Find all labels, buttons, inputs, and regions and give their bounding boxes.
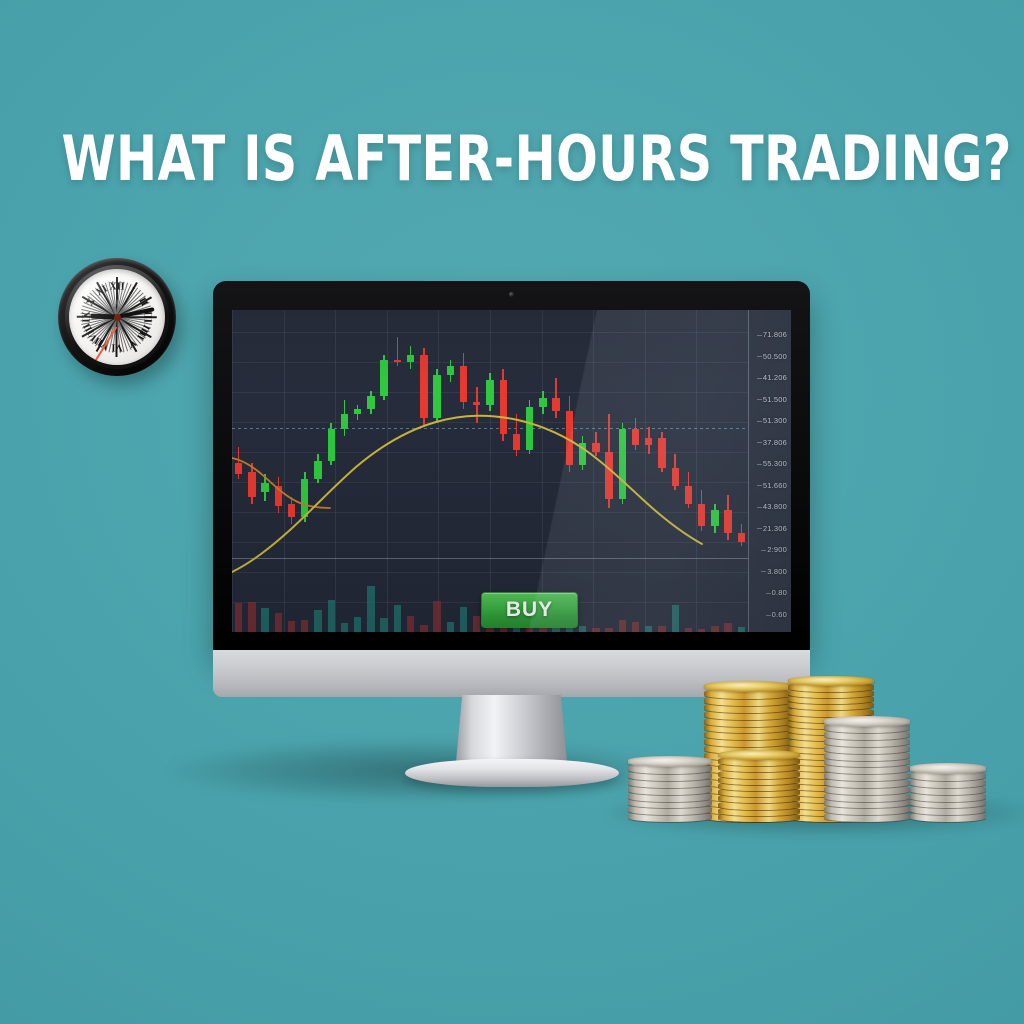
coin	[788, 676, 874, 686]
clock-face: XIIIIIIIIIIIIVVIVIIVIIIIXXXI ⚜	[69, 269, 165, 365]
coin-stacks	[628, 556, 1024, 822]
price-axis-label: 2:900	[767, 545, 787, 554]
clock-center-pin	[114, 314, 121, 321]
price-axis-label: 50.500	[763, 352, 787, 361]
coin-stack	[824, 709, 910, 822]
clock-brand-icon: ⚜	[114, 299, 120, 307]
webcam-icon	[509, 292, 514, 297]
monitor-stand-neck	[456, 695, 568, 767]
coin	[628, 756, 712, 767]
wall-clock: XIIIIIIIIIIIIVVIVIIVIIIIXXXI ⚜	[58, 258, 176, 376]
coin	[704, 681, 792, 692]
price-axis-label: 51.300	[763, 416, 787, 425]
price-axis-label: 55.300	[763, 459, 787, 468]
price-axis-label: 71.806	[763, 330, 787, 339]
page-title: WHAT IS AFTER-HOURS TRADING?	[61, 122, 962, 195]
monitor-stand-base	[405, 759, 619, 787]
coin	[824, 716, 910, 727]
coin-stack	[910, 756, 986, 822]
price-axis-label: 21.306	[763, 524, 787, 533]
buy-button[interactable]: BUY	[481, 592, 578, 628]
coin-stack	[718, 744, 800, 822]
price-axis-label: 51.500	[763, 395, 787, 404]
price-axis-label: 41.206	[763, 373, 787, 382]
price-axis-label: 51.660	[763, 481, 787, 490]
coin	[910, 763, 986, 774]
coin-stack	[628, 750, 712, 822]
price-axis-label: 37.806	[763, 438, 787, 447]
coin	[718, 750, 800, 760]
price-axis-label: 43.800	[763, 502, 787, 511]
